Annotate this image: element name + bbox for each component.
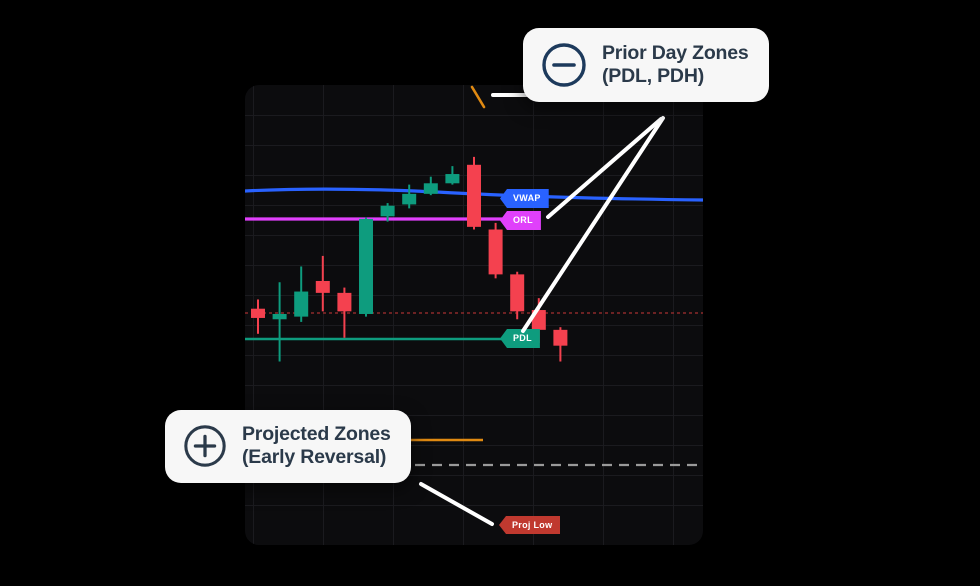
projected-diagonal-segment <box>472 87 484 107</box>
candle-body <box>294 292 308 317</box>
candle-body <box>467 165 481 227</box>
plus-circle-icon <box>182 423 228 469</box>
callout-prior-day-zones-text: Prior Day Zones (PDL, PDH) <box>602 42 749 89</box>
callout-prior-line2: (PDL, PDH) <box>602 65 749 88</box>
price-tag-proj-low-label: Proj Low <box>512 521 552 530</box>
price-tag-orl-label: ORL <box>513 216 533 225</box>
minus-circle-icon <box>540 41 588 89</box>
candle-body <box>273 314 287 319</box>
candle-body <box>532 310 546 330</box>
callout-projected-line2: (Early Reversal) <box>242 446 391 469</box>
screenshot-stage: VWAP ORL PDL Proj Low Prior Day Zones (P… <box>0 0 980 586</box>
candle-body <box>510 274 524 311</box>
candle-body <box>359 219 373 314</box>
callout-prior-day-zones[interactable]: Prior Day Zones (PDL, PDH) <box>523 28 769 102</box>
candle-body <box>445 174 459 183</box>
candle-body <box>489 229 503 274</box>
callout-projected-zones[interactable]: Projected Zones (Early Reversal) <box>165 410 411 483</box>
candle-body <box>553 330 567 346</box>
price-tag-proj-low[interactable]: Proj Low <box>499 516 560 534</box>
candle-body <box>316 281 330 293</box>
price-tag-orl[interactable]: ORL <box>500 211 541 230</box>
candle-body <box>424 183 438 194</box>
price-tag-pdl[interactable]: PDL <box>500 329 540 348</box>
candle-body <box>381 206 395 217</box>
price-tag-vwap-label: VWAP <box>513 194 541 203</box>
callout-prior-line1: Prior Day Zones <box>602 42 749 65</box>
candle-body <box>402 194 416 205</box>
callout-projected-line1: Projected Zones <box>242 423 391 446</box>
price-tag-vwap[interactable]: VWAP <box>500 189 549 208</box>
callout-projected-zones-text: Projected Zones (Early Reversal) <box>242 423 391 470</box>
price-tag-pdl-label: PDL <box>513 334 532 343</box>
candle-body <box>337 293 351 311</box>
candle-body <box>251 309 265 318</box>
